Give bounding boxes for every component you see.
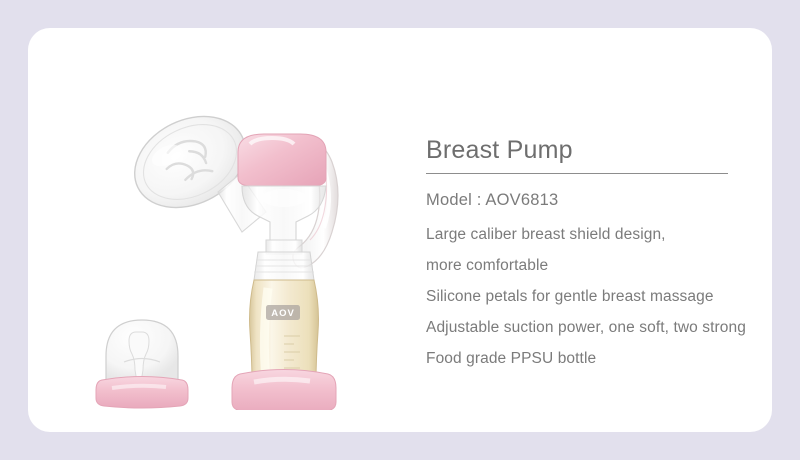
feature-item: Adjustable suction power, one soft, two …	[426, 312, 798, 343]
feature-item: more comfortable	[426, 250, 798, 281]
pump-head-cap	[238, 134, 326, 186]
teat-collar-ring	[96, 377, 188, 409]
product-info: Breast Pump Model : AOV6813 Large calibe…	[426, 133, 798, 374]
brand-label: AOV	[266, 305, 300, 320]
feature-list: Large caliber breast shield design, more…	[426, 219, 798, 374]
breast-pump-illustration: AOV	[90, 100, 410, 410]
feature-item: Food grade PPSU bottle	[426, 343, 798, 374]
feature-item: Large caliber breast shield design,	[426, 219, 798, 250]
feature-item: Silicone petals for gentle breast massag…	[426, 281, 798, 312]
product-card: AOV Brea	[28, 28, 772, 432]
teat-dome-assembly	[96, 320, 188, 408]
bottle-base-ring	[232, 370, 336, 411]
page-title: Breast Pump	[426, 133, 798, 173]
brand-mark-text: AOV	[271, 308, 295, 319]
model-label: Model : AOV6813	[426, 185, 798, 215]
product-image: AOV	[90, 100, 410, 410]
title-divider	[426, 173, 728, 174]
ppsu-bottle: AOV	[250, 252, 319, 384]
